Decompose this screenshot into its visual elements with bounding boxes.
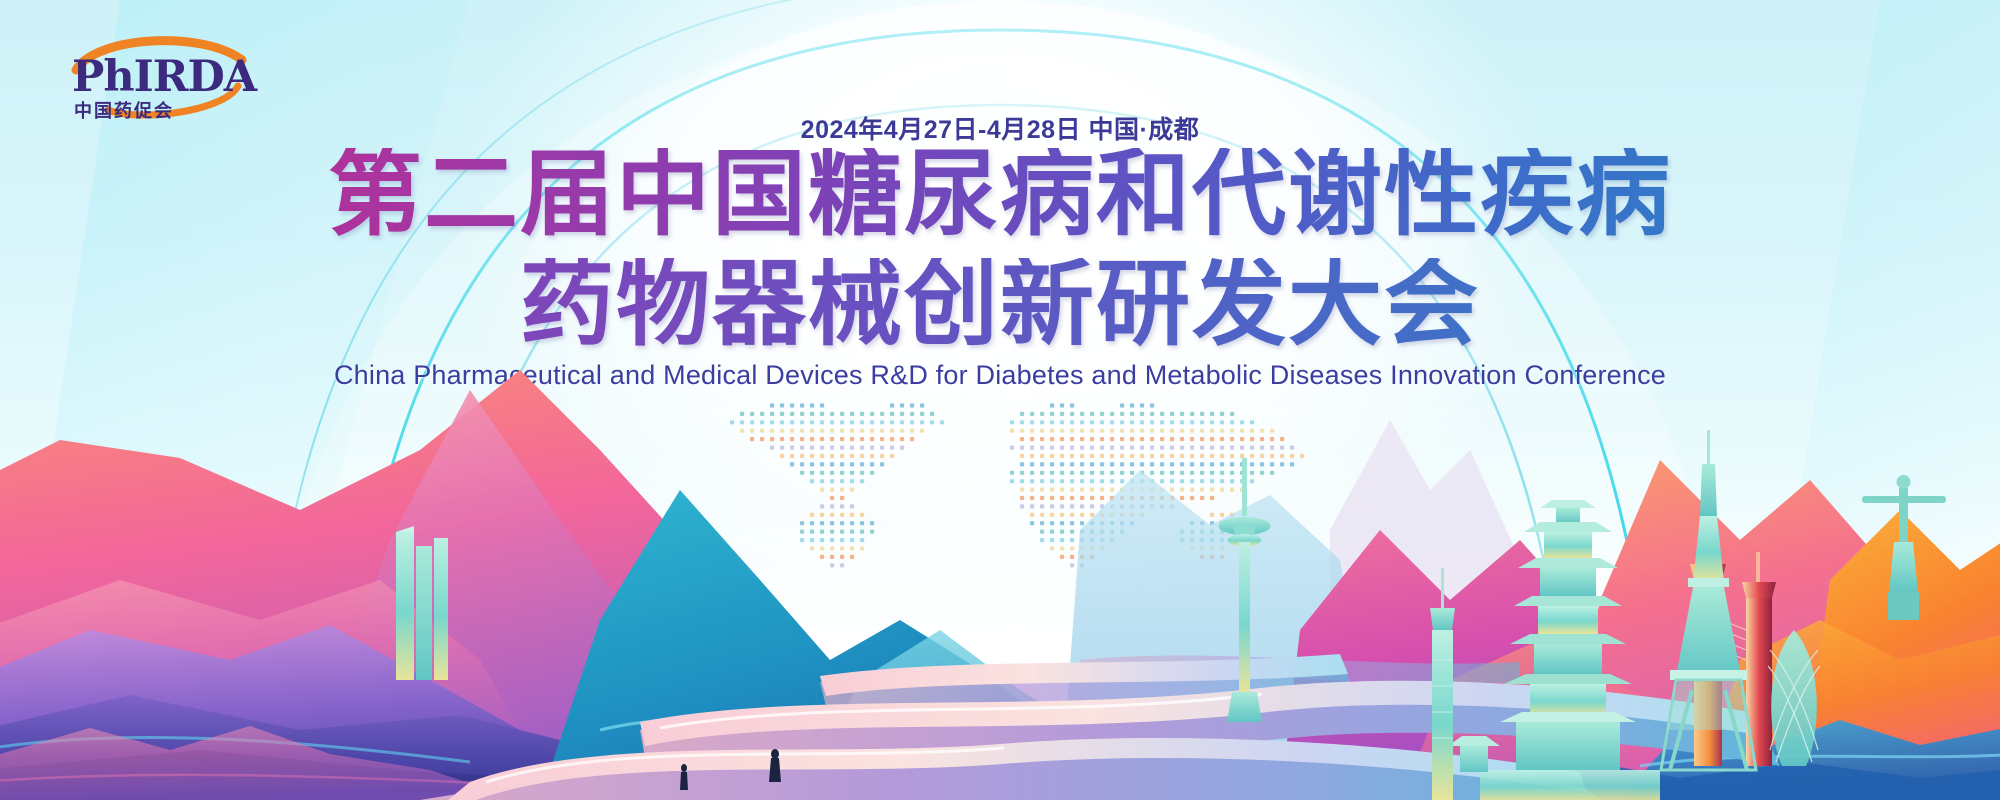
walking-person-2 (680, 764, 688, 790)
conference-banner: PhIRDA 中国药促会 2024年4月27日-4月28日 中国·成都 第二届中… (0, 0, 2000, 800)
skyscraper-left (396, 526, 448, 680)
mountain-landscape-illustration (0, 330, 2000, 800)
page-title-line-1: 第二届中国糖尿病和代谢性疾病 (0, 148, 2000, 242)
logo-wordmark: PhIRDA (72, 56, 256, 99)
phirda-logo[interactable]: PhIRDA 中国药促会 (52, 26, 262, 122)
